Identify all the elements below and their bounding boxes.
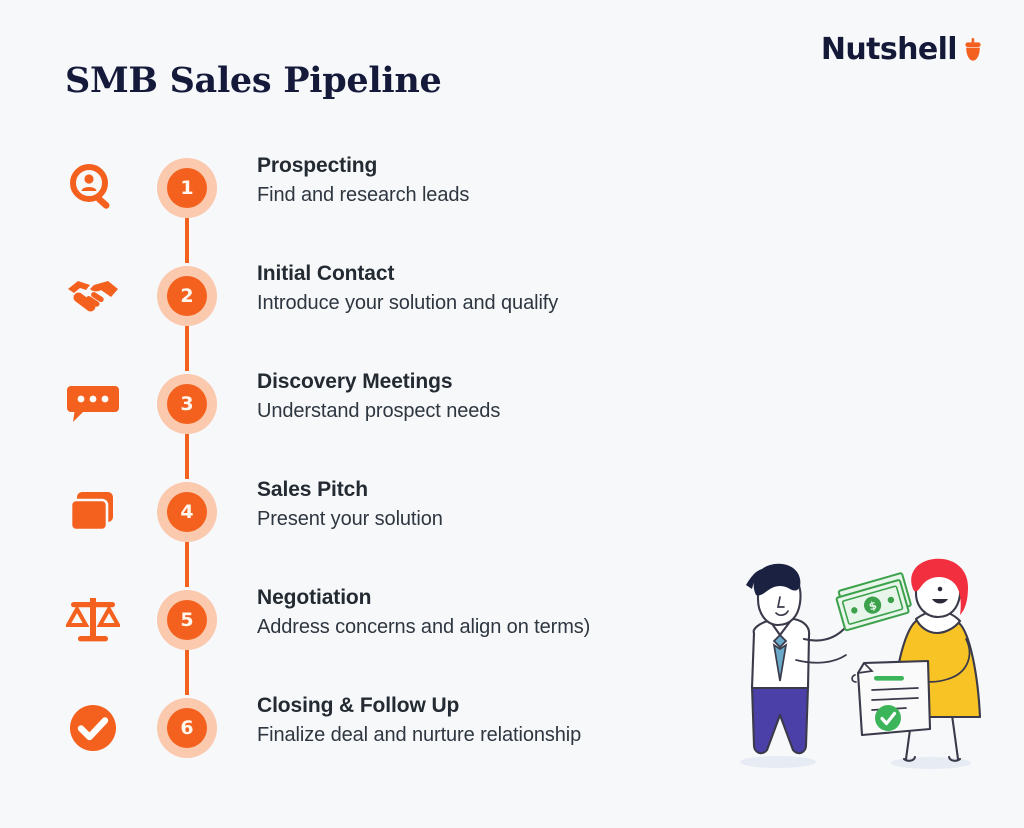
step-text-block: Prospecting Find and research leads xyxy=(257,151,697,210)
step-badge-1: 1 xyxy=(157,158,217,218)
step-description: Find and research leads xyxy=(257,181,697,210)
step-badge-4: 4 xyxy=(157,482,217,542)
pipeline-step-1[interactable]: 1 Prospecting Find and research leads xyxy=(62,155,702,263)
acorn-icon xyxy=(964,38,982,62)
step-description: Introduce your solution and qualify xyxy=(257,289,697,318)
brand-logo: Nutshell xyxy=(821,32,982,67)
speech-bubble-dots-icon xyxy=(62,373,124,435)
timeline-connector xyxy=(185,542,189,587)
deal-closing-illustration: .ln { fill:none; stroke:#3A3A4A; stroke-… xyxy=(716,555,1006,780)
step-text-block: Negotiation Address concerns and align o… xyxy=(257,583,697,642)
step-badge-3: 3 xyxy=(157,374,217,434)
step-number: 5 xyxy=(167,600,207,640)
step-text-block: Initial Contact Introduce your solution … xyxy=(257,259,697,318)
pipeline-step-4[interactable]: 4 Sales Pitch Present your solution xyxy=(62,479,702,587)
step-description: Understand prospect needs xyxy=(257,397,697,426)
balance-scales-icon xyxy=(62,589,124,651)
step-title: Negotiation xyxy=(257,583,697,613)
pipeline-step-2[interactable]: 2 Initial Contact Introduce your solutio… xyxy=(62,263,702,371)
step-text-block: Sales Pitch Present your solution xyxy=(257,475,697,534)
step-badge-6: 6 xyxy=(157,698,217,758)
timeline-connector xyxy=(185,434,189,479)
step-number: 1 xyxy=(167,168,207,208)
check-circle-icon xyxy=(62,697,124,759)
brand-name: Nutshell xyxy=(821,32,957,67)
step-title: Discovery Meetings xyxy=(257,367,697,397)
step-text-block: Discovery Meetings Understand prospect n… xyxy=(257,367,697,426)
timeline-connector xyxy=(185,326,189,371)
step-badge-2: 2 xyxy=(157,266,217,326)
pipeline-step-6[interactable]: 6 Closing & Follow Up Finalize deal and … xyxy=(62,695,702,803)
step-number: 6 xyxy=(167,708,207,748)
step-number: 2 xyxy=(167,276,207,316)
step-title: Prospecting xyxy=(257,151,697,181)
pipeline-step-5[interactable]: 5 Negotiation Address concerns and align… xyxy=(62,587,702,695)
step-text-block: Closing & Follow Up Finalize deal and nu… xyxy=(257,691,697,750)
timeline-connector xyxy=(185,218,189,263)
step-title: Initial Contact xyxy=(257,259,697,289)
handshake-icon xyxy=(62,265,124,327)
step-title: Sales Pitch xyxy=(257,475,697,505)
step-title: Closing & Follow Up xyxy=(257,691,697,721)
step-description: Finalize deal and nurture relationship xyxy=(257,721,697,750)
step-description: Present your solution xyxy=(257,505,697,534)
timeline-connector xyxy=(185,650,189,695)
page-title: SMB Sales Pipeline xyxy=(65,60,441,101)
magnifier-person-icon xyxy=(62,157,124,219)
step-description: Address concerns and align on terms) xyxy=(257,613,697,642)
step-number: 3 xyxy=(167,384,207,424)
stacked-cards-icon xyxy=(62,481,124,543)
pipeline-step-3[interactable]: 3 Discovery Meetings Understand prospect… xyxy=(62,371,702,479)
step-number: 4 xyxy=(167,492,207,532)
pipeline-timeline: 1 Prospecting Find and research leads 2 … xyxy=(62,155,702,803)
step-badge-5: 5 xyxy=(157,590,217,650)
